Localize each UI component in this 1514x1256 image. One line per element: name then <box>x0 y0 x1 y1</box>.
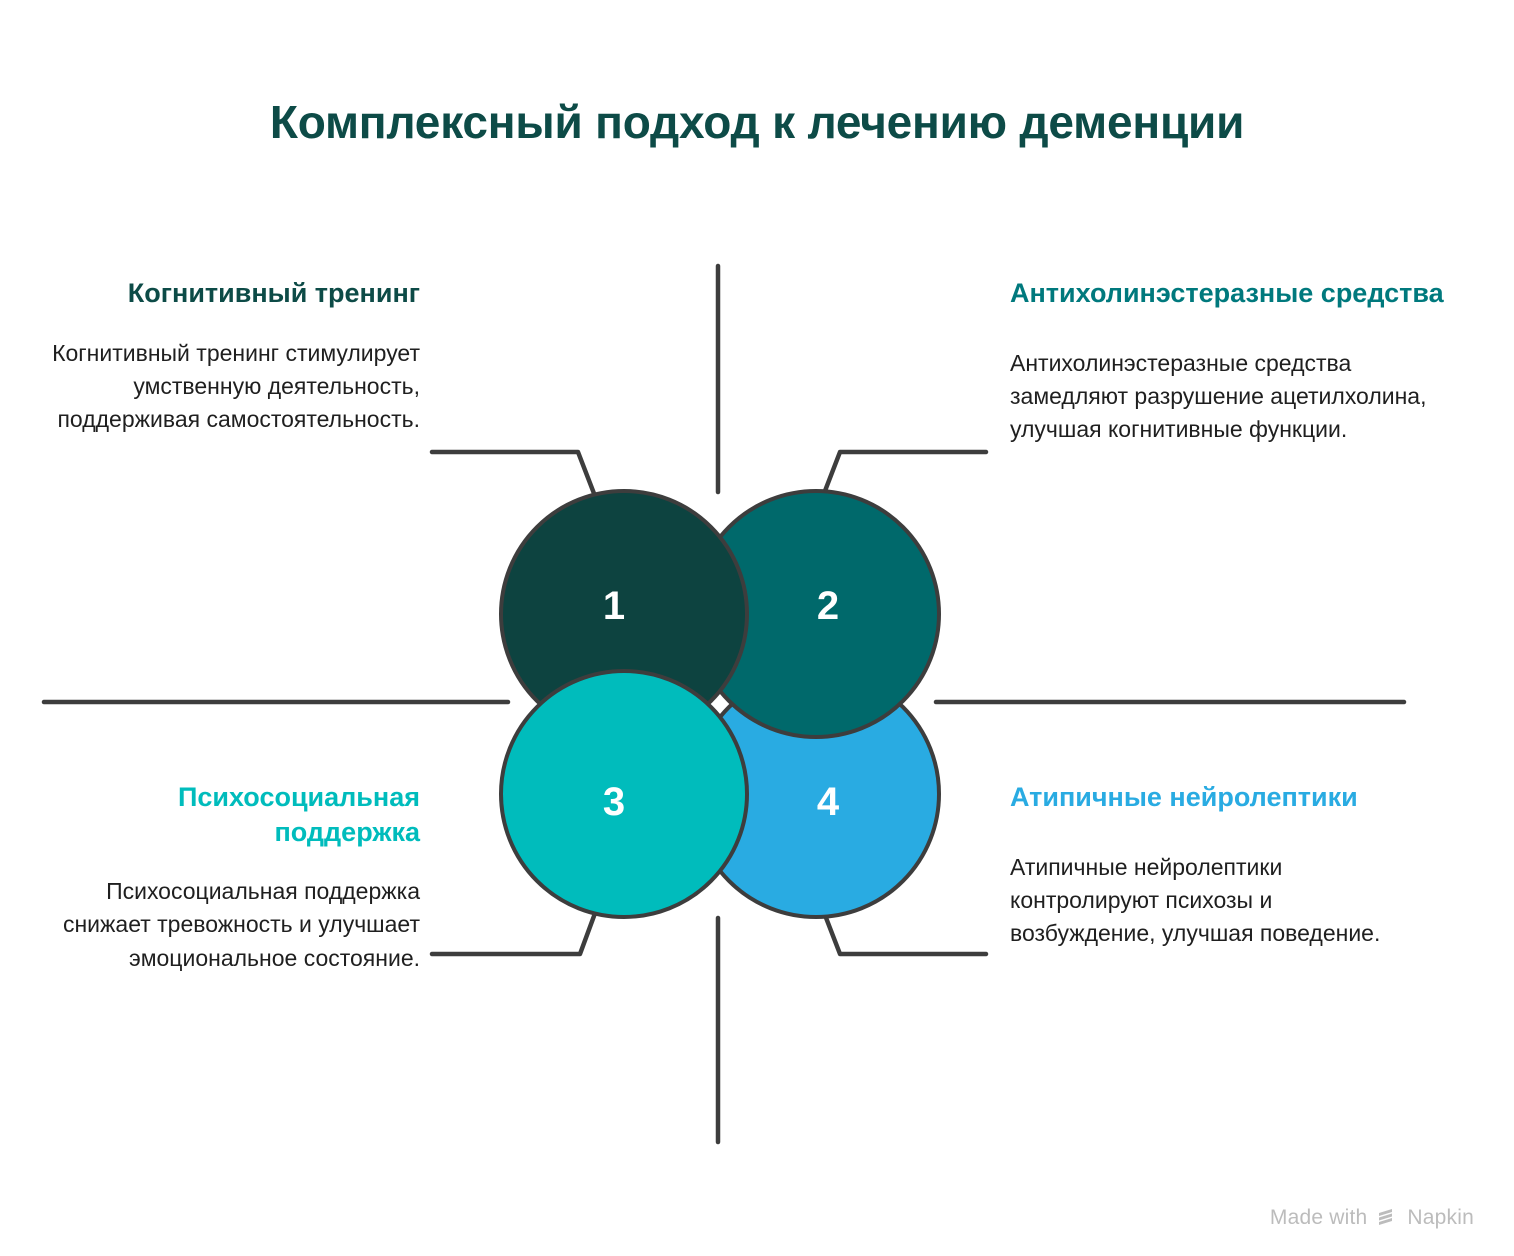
circle-number-4: 4 <box>817 780 840 824</box>
circle-number-1: 1 <box>603 584 625 628</box>
quadrant-1: Когнитивный тренинг Когнитивный тренинг … <box>44 276 420 437</box>
quadrant-4-body: Атипичные нейролептики контролируют псих… <box>1010 851 1410 951</box>
napkin-logo-icon <box>1376 1207 1398 1229</box>
venn-diagram: 1 2 3 4 <box>498 482 942 926</box>
quadrant-3-heading: Психосоциальная поддержка <box>44 780 420 849</box>
quadrant-1-body: Когнитивный тренинг стимулирует умственн… <box>44 337 420 437</box>
quadrant-1-heading: Когнитивный тренинг <box>44 276 420 311</box>
quadrant-3-body: Психосоциальная поддержка снижает тревож… <box>44 875 420 975</box>
watermark-prefix: Made with <box>1270 1206 1368 1230</box>
circle-number-3: 3 <box>603 780 625 824</box>
quadrant-2: Антихолинэстеразные средства Антихолинэс… <box>1010 276 1450 447</box>
infographic-canvas: Комплексный подход к лечению деменции <box>0 0 1514 1256</box>
napkin-watermark: Made with Napkin <box>1270 1206 1474 1230</box>
circle-cluster: 1 2 3 4 <box>498 482 942 926</box>
quadrant-4: Атипичные нейролептики Атипичные нейроле… <box>1010 780 1410 951</box>
quadrant-2-heading: Антихолинэстеразные средства <box>1010 276 1450 311</box>
circle-number-2: 2 <box>817 584 839 628</box>
quadrant-2-body: Антихолинэстеразные средства замедляют р… <box>1010 347 1450 447</box>
watermark-brand: Napkin <box>1407 1206 1474 1230</box>
page-title: Комплексный подход к лечению деменции <box>0 96 1514 149</box>
quadrant-3: Психосоциальная поддержка Психосоциальна… <box>44 780 420 975</box>
quadrant-4-heading: Атипичные нейролептики <box>1010 780 1410 815</box>
